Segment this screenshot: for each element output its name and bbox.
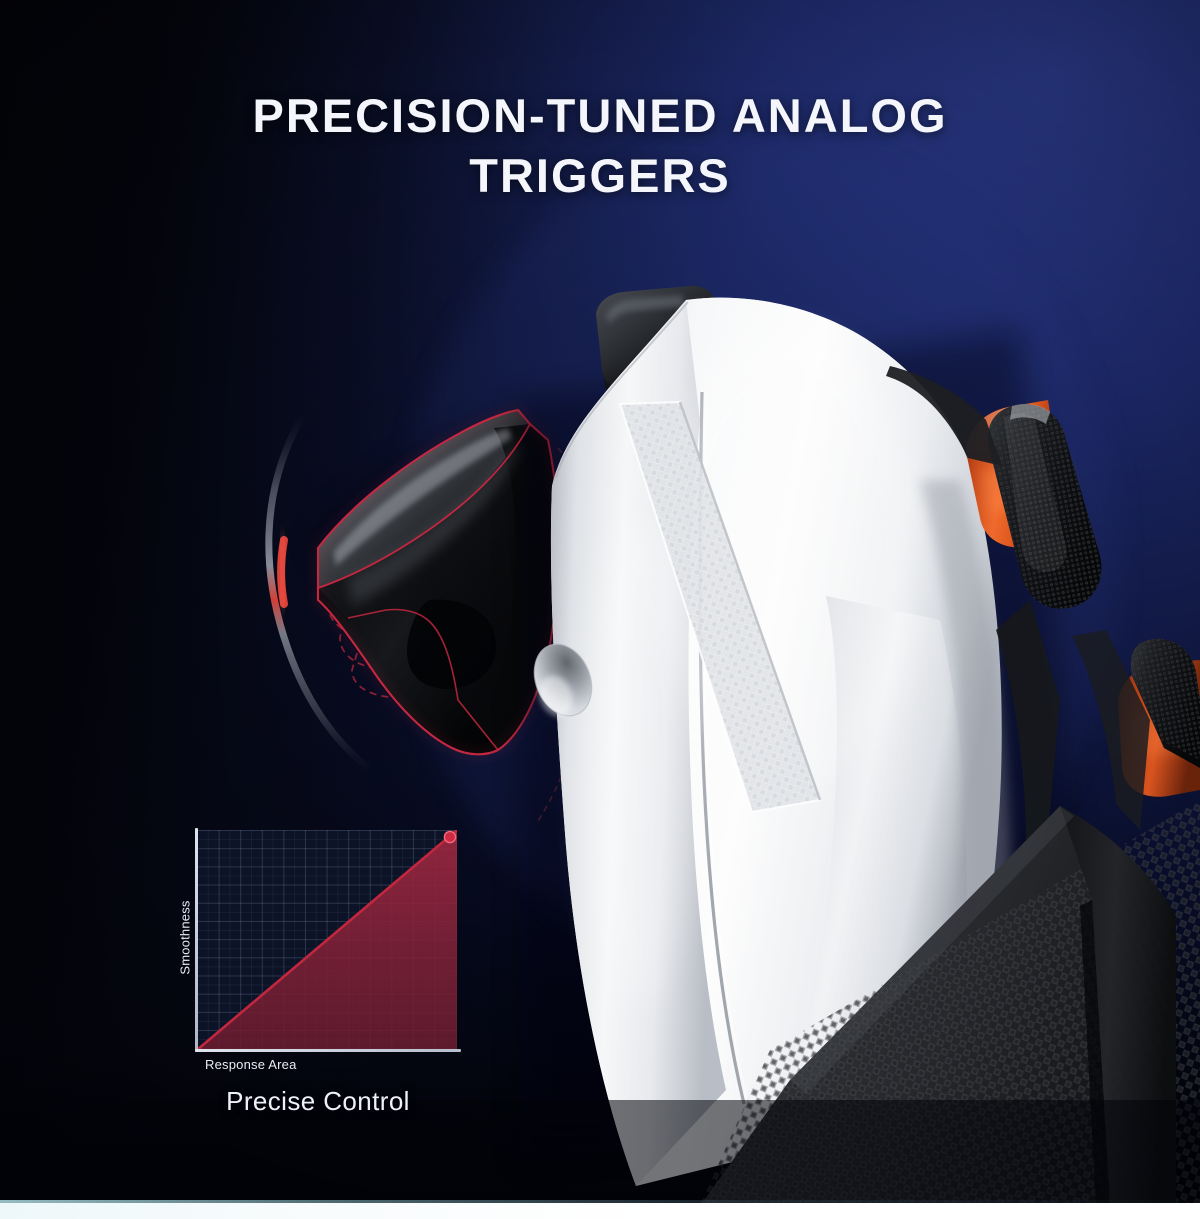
chart-x-axis-label: Response Area	[205, 1057, 297, 1072]
chart-y-axis-label: Smoothness	[178, 883, 193, 993]
bottom-white-band	[0, 1203, 1200, 1219]
headline-line-2: TRIGGERS	[0, 146, 1200, 206]
chart-x-axis	[195, 1049, 461, 1052]
chart-y-axis	[195, 828, 198, 1052]
headline: PRECISION-TUNED ANALOG TRIGGERS	[0, 86, 1200, 206]
chart-caption: Precise Control	[163, 1086, 473, 1117]
chart-marker-svg	[197, 830, 457, 1050]
chart-plot-area	[197, 830, 457, 1050]
chart-endpoint-marker	[444, 831, 455, 842]
precise-control-chart: Smoothness Response Area Precise Control	[163, 818, 473, 1118]
headline-line-1: PRECISION-TUNED ANALOG	[0, 86, 1200, 146]
product-marketing-image: PRECISION-TUNED ANALOG TRIGGERS	[0, 0, 1200, 1219]
